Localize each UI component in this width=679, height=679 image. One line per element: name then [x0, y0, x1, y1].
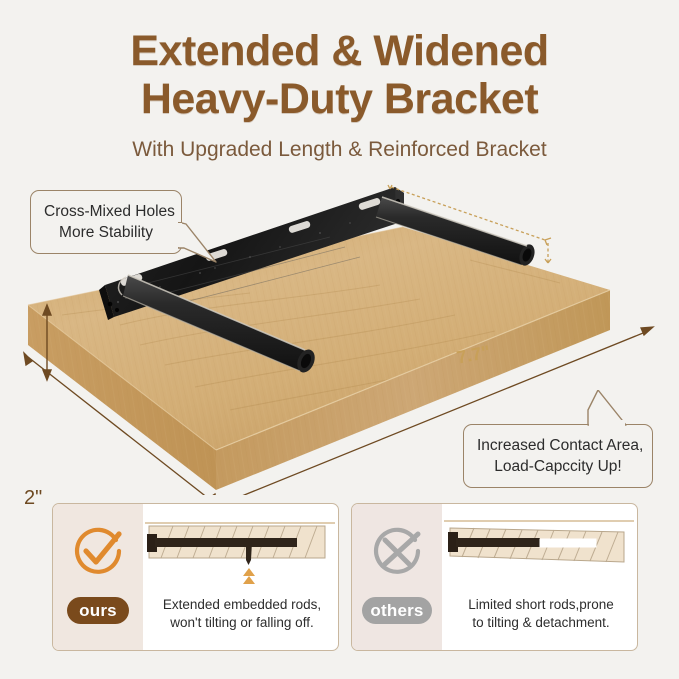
infographic-canvas: Extended & Widened Heavy-Duty Bracket Wi… [0, 0, 679, 679]
others-cross-section-diagram [444, 510, 636, 594]
panel-ours-caption-line2: won't tilting or falling off. [149, 614, 335, 632]
callout-contact-line1: Increased Contact Area, [477, 435, 639, 456]
page-subtitle: With Upgraded Length & Reinforced Bracke… [0, 138, 679, 162]
x-circle-icon [371, 526, 423, 578]
panel-others-caption-line2: to tilting & detachment. [448, 614, 634, 632]
ours-cross-section-diagram [145, 510, 337, 594]
force-arrows-icon [243, 568, 255, 584]
callout-contact-line2: Load-Capccity Up! [477, 456, 639, 477]
comparison-panel-others: others Limited short rod [351, 503, 638, 651]
callout-holes-tail [178, 222, 234, 264]
panel-ours-caption-line1: Extended embedded rods, [149, 596, 335, 614]
badge-others: others [362, 597, 432, 624]
check-circle-icon [72, 526, 124, 578]
callout-holes-line1: Cross-Mixed Holes [44, 201, 168, 222]
panel-others-caption: Limited short rods,prone to tilting & de… [448, 596, 634, 632]
comparison-panel-ours: ours [52, 503, 339, 651]
page-title-line1: Extended & Widened [0, 28, 679, 74]
panel-ours-caption: Extended embedded rods, won't tilting or… [149, 596, 335, 632]
badge-ours: ours [67, 597, 129, 624]
page-title-line2: Heavy-Duty Bracket [0, 76, 679, 122]
callout-cross-mixed-holes: Cross-Mixed Holes More Stability [30, 190, 182, 254]
callout-contact-tail [580, 390, 630, 432]
comparison-section: ours [0, 503, 679, 653]
panel-others-caption-line1: Limited short rods,prone [448, 596, 634, 614]
callout-holes-line2: More Stability [44, 222, 168, 243]
header-block: Extended & Widened Heavy-Duty Bracket Wi… [0, 28, 679, 162]
callout-increased-contact-area: Increased Contact Area, Load-Capccity Up… [463, 424, 653, 488]
